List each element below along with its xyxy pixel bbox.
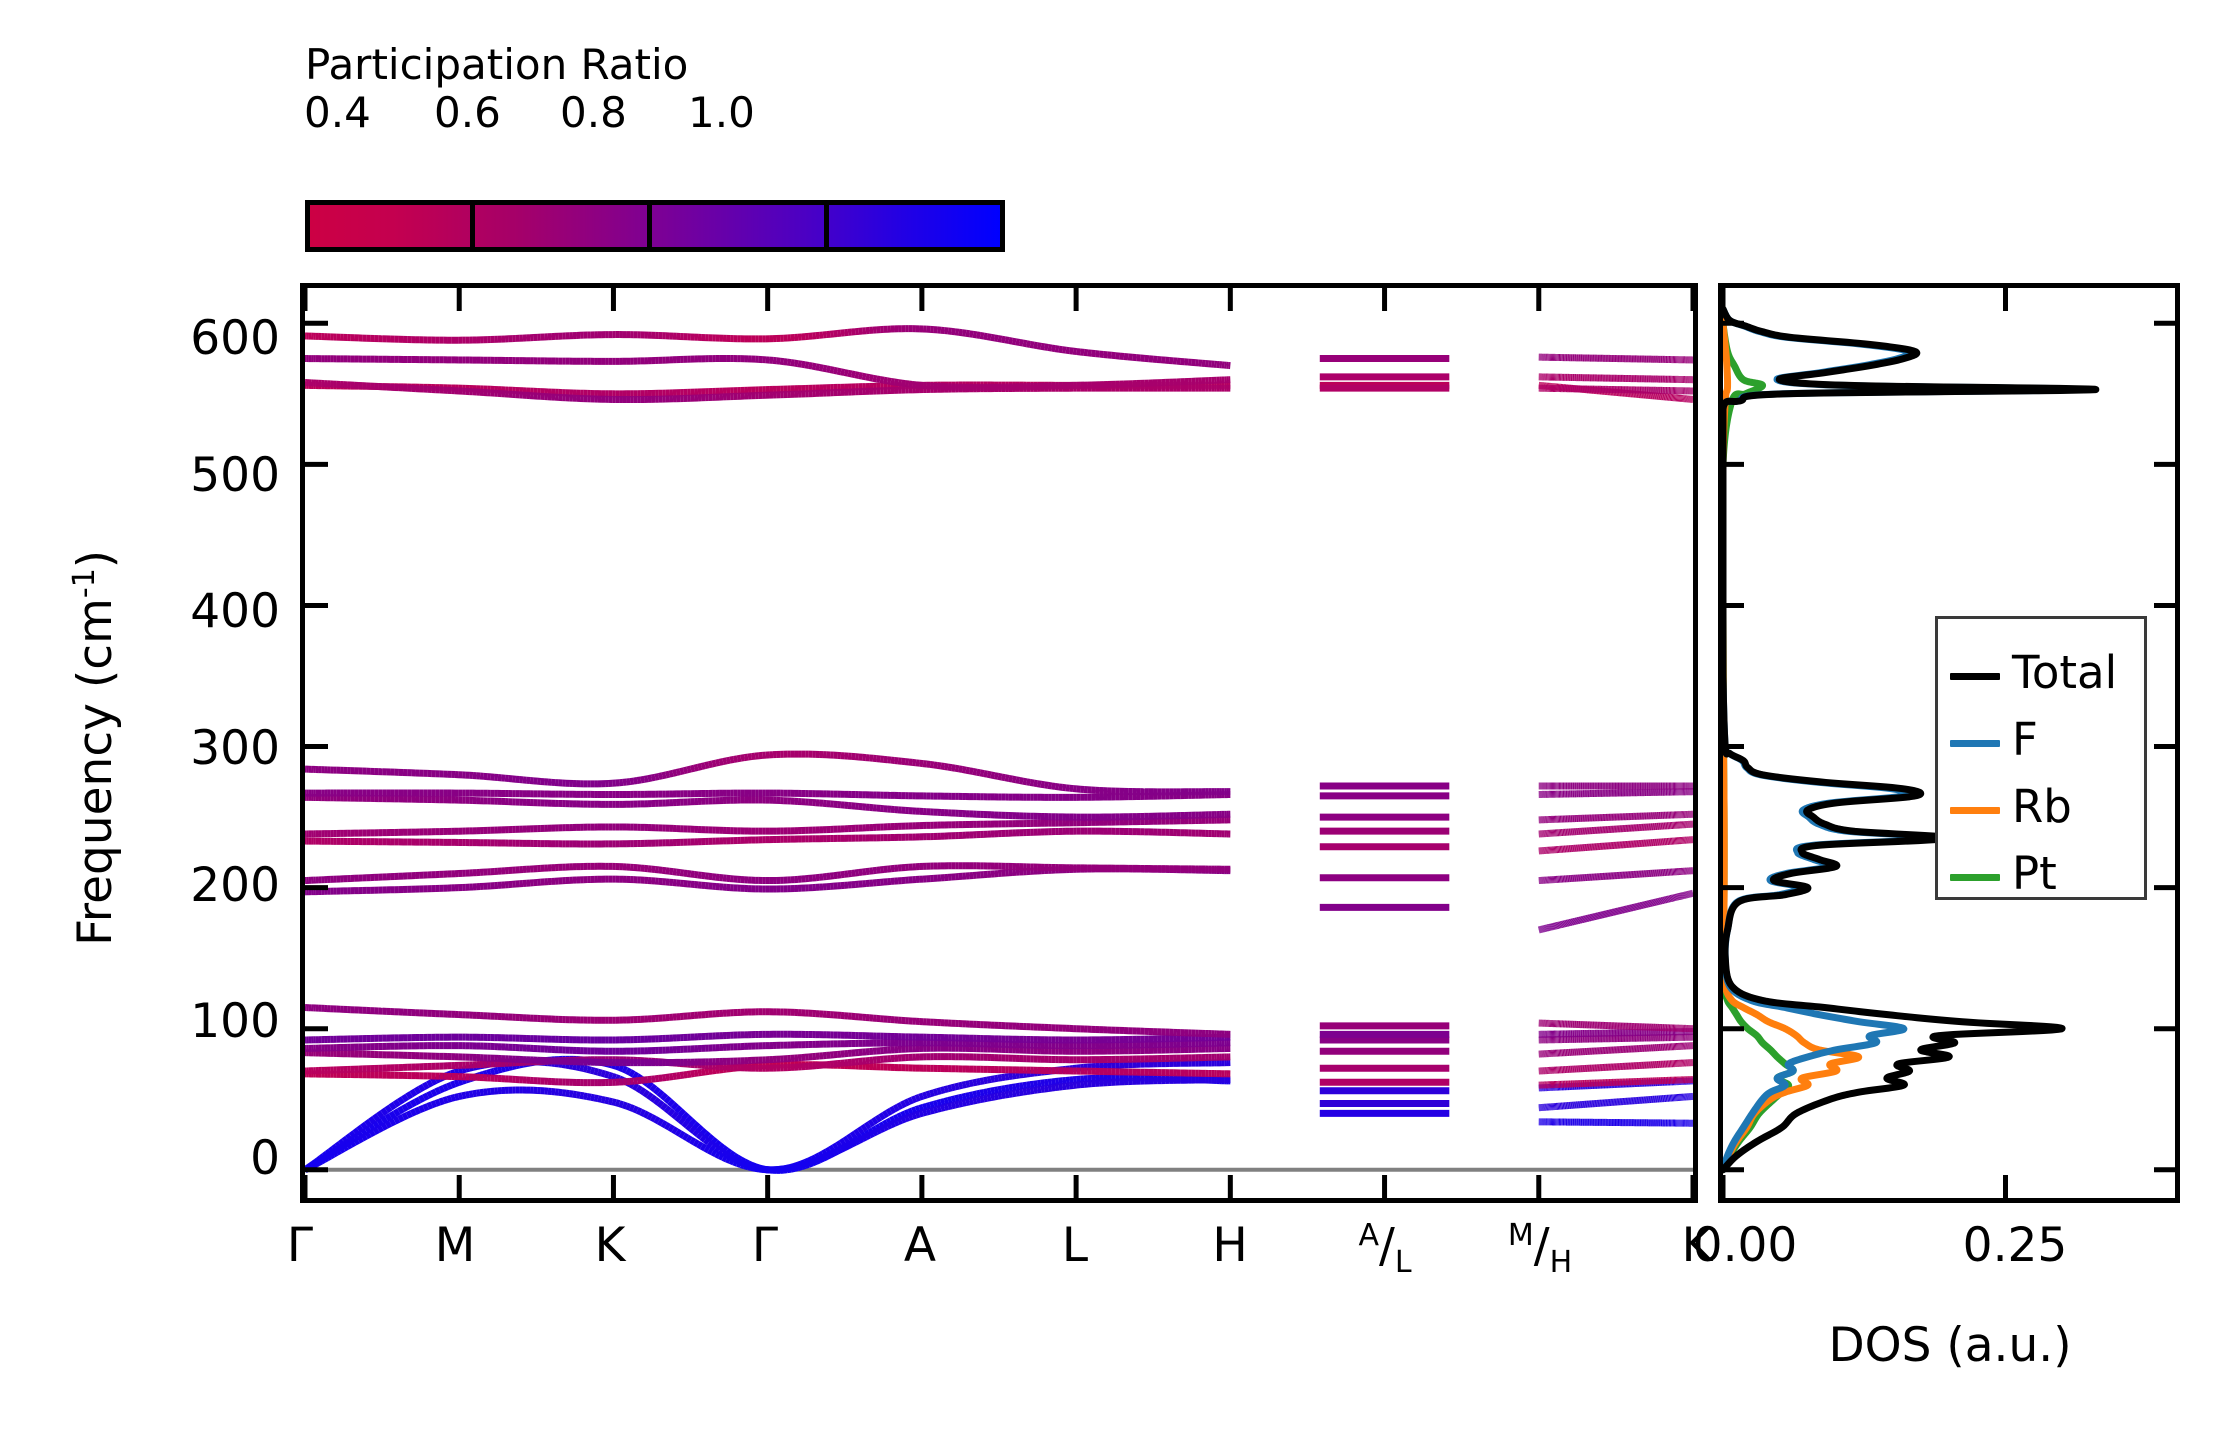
x-tick-8-numerator: M	[1508, 1218, 1534, 1253]
colorbar-divider-3	[824, 200, 829, 252]
colorbar-tick-1: 0.6	[434, 88, 501, 137]
dos-x-axis-label: DOS (a.u.)	[1730, 1318, 2170, 1373]
x-tick-7-numerator: A	[1358, 1218, 1379, 1253]
x-tick-label-h: H	[1212, 1218, 1247, 1273]
x-tick-7: A/L	[1300, 1218, 1470, 1280]
colorbar-title: Participation Ratio	[305, 40, 688, 89]
colorbar-divider-1	[470, 200, 475, 252]
y-tick-500: 500	[110, 448, 280, 503]
x-tick-8-denominator: H	[1550, 1245, 1573, 1280]
x-tick-8-slash: /	[1534, 1219, 1550, 1274]
x-tick-7-slash: /	[1379, 1219, 1395, 1274]
y-tick-0: 0	[110, 1131, 280, 1186]
legend-label-f: F	[2012, 713, 2038, 766]
colorbar-tick-3: 1.0	[688, 88, 755, 137]
legend-swatch-rb	[1950, 807, 2000, 814]
band-structure-plot	[300, 283, 1698, 1203]
y-tick-300: 300	[110, 721, 280, 776]
legend-swatch-pt	[1950, 874, 2000, 881]
legend-label-rb: Rb	[2012, 780, 2072, 833]
colorbar-divider-2	[647, 200, 652, 252]
x-tick-5: L	[990, 1218, 1160, 1273]
x-tick-label-k1: K	[595, 1218, 626, 1273]
y-axis-label-exponent: -1	[67, 568, 102, 598]
x-tick-label-a: A	[904, 1218, 936, 1273]
x-tick-4: A	[835, 1218, 1005, 1273]
legend-swatch-total	[1950, 673, 2000, 680]
figure-root: Participation Ratio 0.4 0.6 0.8 1.0 Freq…	[0, 0, 2222, 1455]
dos-x-tick-1: 0.25	[1925, 1218, 2105, 1273]
x-tick-0: Γ	[215, 1218, 385, 1273]
y-tick-400: 400	[110, 584, 280, 639]
participation-ratio-colorbar	[305, 200, 1005, 252]
y-axis-label-tail: )	[68, 550, 123, 568]
x-tick-label-m: M	[435, 1218, 476, 1273]
colorbar-tick-2: 0.8	[560, 88, 627, 137]
x-tick-label-gamma2: Γ	[752, 1218, 778, 1273]
y-tick-200: 200	[110, 858, 280, 913]
x-tick-3: Γ	[680, 1218, 850, 1273]
legend-label-pt: Pt	[2012, 847, 2057, 900]
x-tick-1: M	[370, 1218, 540, 1273]
x-tick-label-gamma1: Γ	[287, 1218, 313, 1273]
y-tick-100: 100	[110, 994, 280, 1049]
legend-swatch-f	[1950, 740, 2000, 747]
x-tick-6: H	[1145, 1218, 1315, 1273]
legend-label-total: Total	[2012, 646, 2117, 699]
x-tick-8: M/H	[1455, 1218, 1625, 1280]
x-tick-7-denominator: L	[1395, 1245, 1412, 1280]
dos-x-tick-0: 0.00	[1655, 1218, 1835, 1273]
x-tick-2: K	[525, 1218, 695, 1273]
y-tick-600: 600	[110, 311, 280, 366]
colorbar-tick-0: 0.4	[304, 88, 371, 137]
x-tick-label-l: L	[1062, 1218, 1088, 1273]
